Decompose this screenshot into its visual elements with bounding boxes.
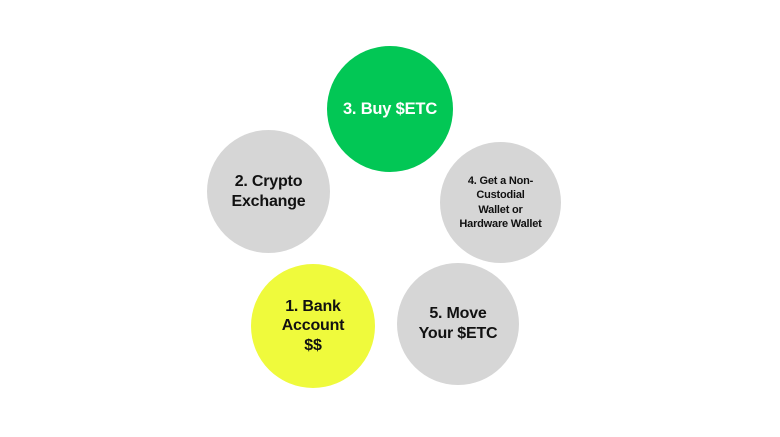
step-node-crypto-exchange[interactable]: 2. Crypto Exchange xyxy=(207,130,330,253)
step-node-buy-etc-label: 3. Buy $ETC xyxy=(339,99,441,119)
step-node-buy-etc[interactable]: 3. Buy $ETC xyxy=(327,46,453,172)
step-node-noncustodial-wallet[interactable]: 4. Get a Non-Custodial Wallet or Hardwar… xyxy=(440,142,561,263)
diagram-canvas: 2. Crypto Exchange 3. Buy $ETC 4. Get a … xyxy=(0,0,780,437)
step-node-noncustodial-wallet-label: 4. Get a Non-Custodial Wallet or Hardwar… xyxy=(440,174,561,231)
step-node-move-etc-label: 5. Move Your $ETC xyxy=(415,304,502,343)
step-node-crypto-exchange-label: 2. Crypto Exchange xyxy=(228,172,310,211)
step-node-move-etc[interactable]: 5. Move Your $ETC xyxy=(397,263,519,385)
step-node-bank-account-label: 1. Bank Account $$ xyxy=(278,297,349,356)
step-node-bank-account[interactable]: 1. Bank Account $$ xyxy=(251,264,375,388)
